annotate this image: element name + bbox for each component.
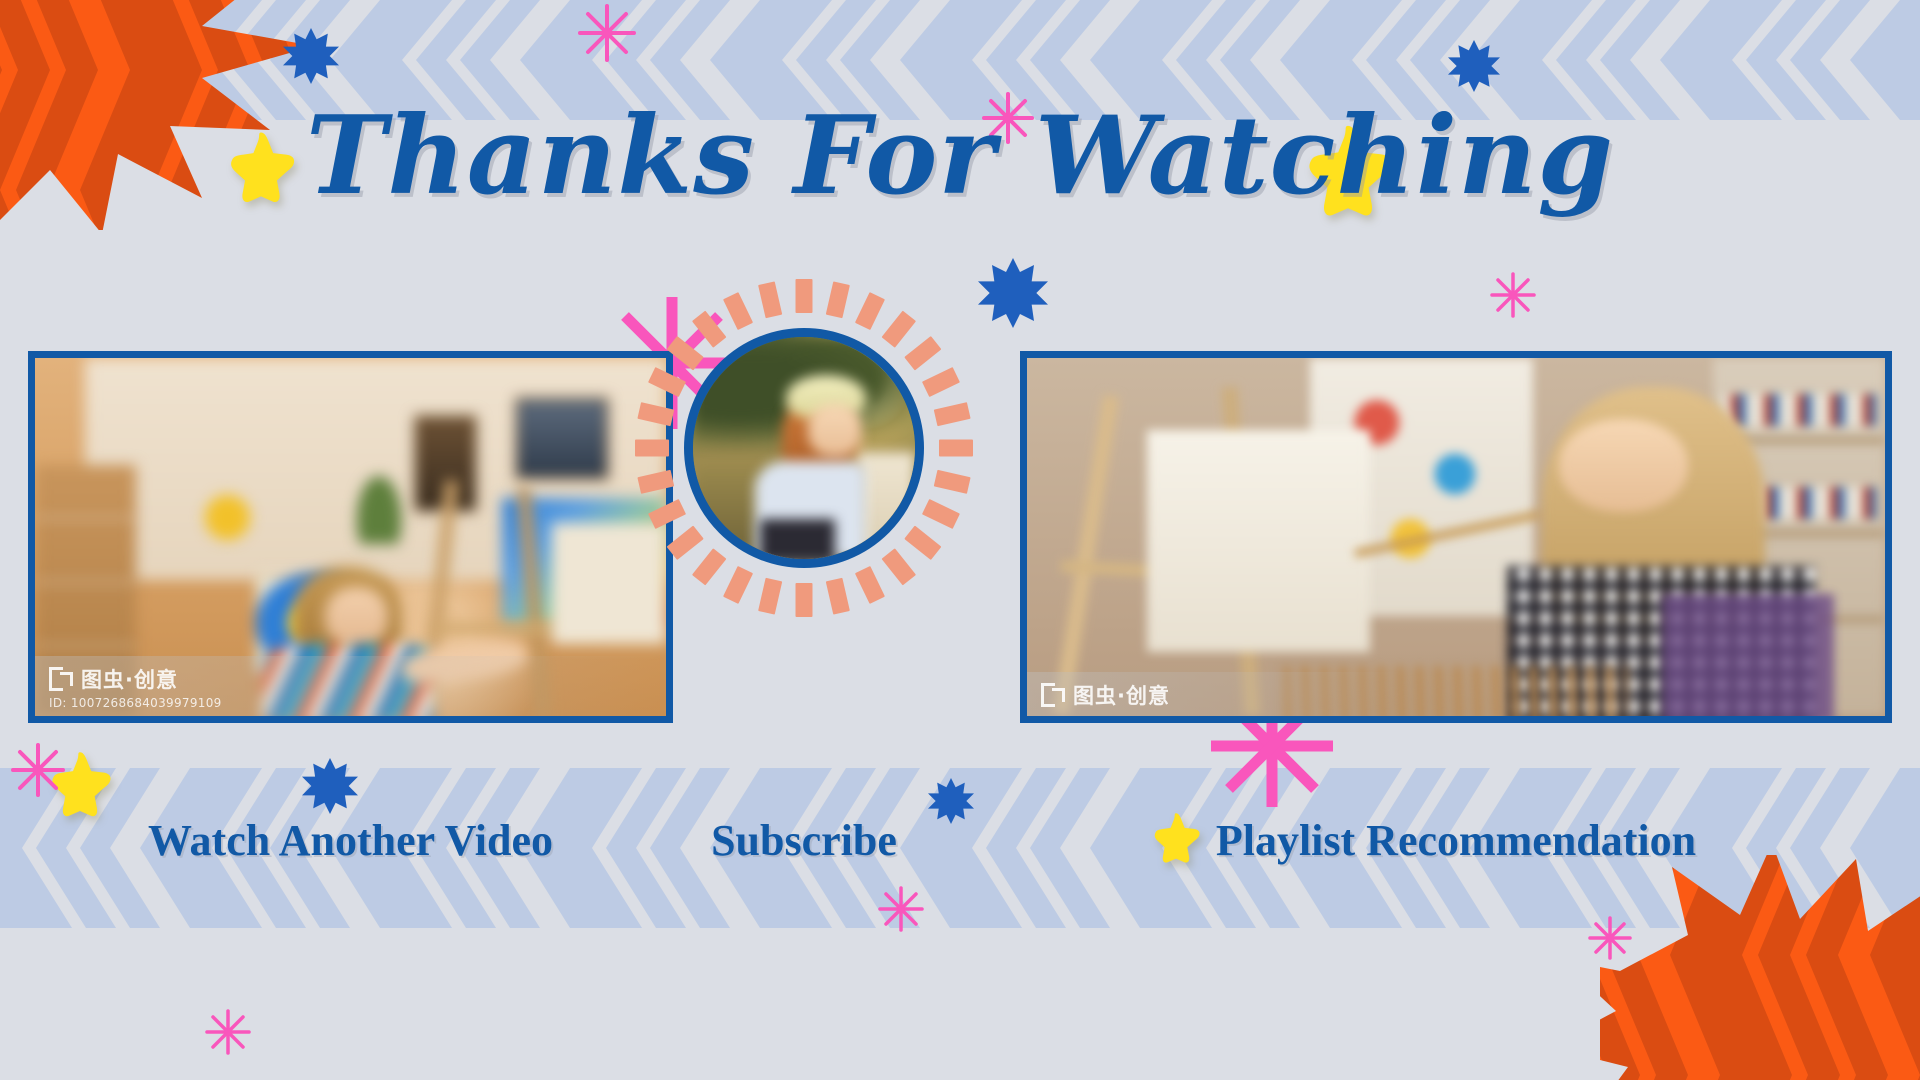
watermark-tuchong-2: 图虫·创意 — [1027, 672, 1405, 716]
subscribe-ray — [723, 566, 753, 604]
subscribe-ray — [855, 566, 885, 604]
subscribe-ray — [635, 440, 669, 457]
thumbnail-image-classroom — [1027, 358, 1885, 716]
subscribe-ray — [758, 578, 782, 615]
subscribe-ray — [723, 292, 753, 330]
page-title: Thanks For Watching — [0, 100, 1920, 213]
subscribe-ray — [826, 578, 850, 615]
subscribe-ray — [796, 279, 813, 313]
subscribe-ray — [934, 402, 971, 426]
subscribe-ray — [826, 281, 850, 318]
tuchong-logo-icon — [49, 667, 73, 691]
card-label-playlist-recommendation[interactable]: Playlist Recommendation — [1020, 815, 1892, 866]
blue-burst-1 — [283, 28, 339, 89]
subscribe-ray — [939, 440, 973, 457]
subscribe-ray — [855, 292, 885, 330]
subscribe-ray — [922, 499, 960, 529]
watermark-brand-2: 图虫·创意 — [1073, 680, 1170, 710]
blue-burst-3 — [978, 258, 1048, 333]
subscribe-avatar[interactable] — [684, 328, 924, 568]
orange-burst-bottom-right-chevron-overlay — [1600, 855, 1920, 1080]
subscribe-ray — [648, 367, 686, 397]
subscribe-ray — [648, 499, 686, 529]
subscribe-ray — [637, 470, 674, 494]
subscribe-ray — [922, 367, 960, 397]
avatar-image-field — [693, 337, 915, 559]
card-label-watch-another-video[interactable]: Watch Another Video — [28, 815, 673, 866]
subscribe-ray — [758, 281, 782, 318]
blue-burst-2 — [1448, 40, 1500, 97]
watermark-id-1: ID: 1007268684039979109 — [49, 696, 666, 710]
thumbnail-playlist-recommendation[interactable]: 图虫·创意 — [1020, 351, 1892, 723]
watermark-tuchong-1: 图虫·创意 ID: 1007268684039979109 — [35, 656, 666, 716]
subscribe-ray — [637, 402, 674, 426]
card-label-subscribe[interactable]: Subscribe — [636, 815, 972, 866]
watermark-brand-1: 图虫·创意 — [81, 664, 178, 694]
end-screen-canvas: Thanks For Watching — [0, 0, 1920, 1080]
subscribe-ray — [934, 470, 971, 494]
subscribe-ray — [796, 583, 813, 617]
blue-burst-5 — [302, 758, 358, 819]
tuchong-logo-icon-2 — [1041, 683, 1065, 707]
thumbnail-watch-another-video[interactable]: 图虫·创意 ID: 1007268684039979109 — [28, 351, 673, 723]
subscribe-avatar-wrapper[interactable] — [636, 280, 972, 616]
